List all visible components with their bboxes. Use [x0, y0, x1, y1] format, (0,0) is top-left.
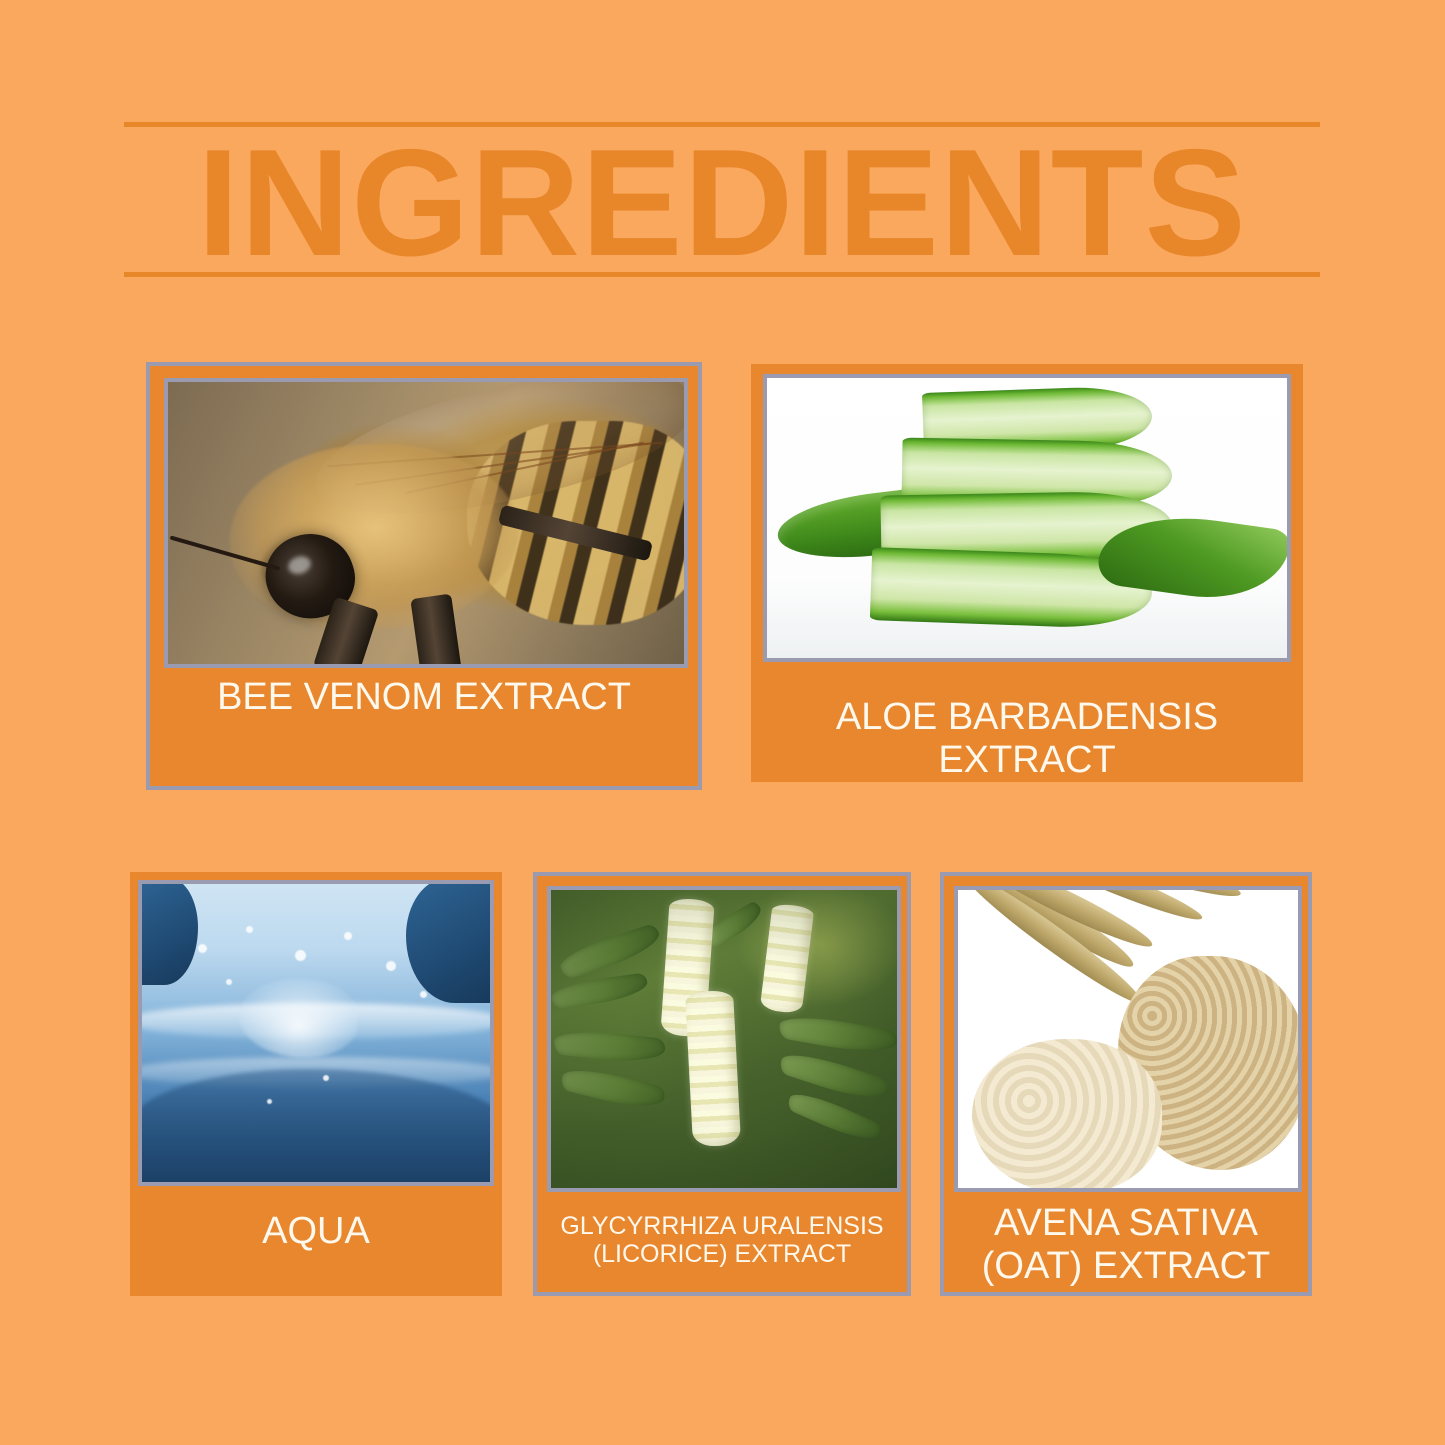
ingredient-card-aloe[interactable]: ALOE BARBADENSIS EXTRACT	[751, 364, 1303, 782]
ingredient-caption-aloe: ALOE BARBADENSIS EXTRACT	[751, 696, 1303, 781]
ingredient-caption-aqua: AQUA	[130, 1210, 502, 1253]
oat-grains-photo	[958, 890, 1298, 1188]
water-splash-photo	[142, 884, 490, 1182]
bee-photo-frame	[164, 378, 688, 668]
ingredient-caption-oat: AVENA SATIVA (OAT) EXTRACT	[944, 1202, 1308, 1287]
ingredient-caption-bee-venom: BEE VENOM EXTRACT	[150, 676, 698, 719]
ingredient-card-aqua[interactable]: AQUA	[130, 872, 502, 1296]
oat-photo-frame	[954, 886, 1302, 1192]
ingredient-card-licorice[interactable]: GLYCYRRHIZA URALENSIS (LICORICE) EXTRACT	[533, 872, 911, 1296]
ingredient-card-oat[interactable]: AVENA SATIVA (OAT) EXTRACT	[940, 872, 1312, 1296]
aloe-photo-frame	[763, 374, 1291, 662]
title-block: INGREDIENTS	[124, 122, 1320, 277]
honeybee-macro-photo	[168, 382, 684, 664]
ingredient-caption-licorice: GLYCYRRHIZA URALENSIS (LICORICE) EXTRACT	[537, 1212, 907, 1268]
page-title: INGREDIENTS	[124, 128, 1320, 278]
licorice-plant-photo	[551, 890, 897, 1188]
title-rule-bottom	[124, 272, 1320, 277]
licorice-photo-frame	[547, 886, 901, 1192]
ingredient-card-bee-venom[interactable]: BEE VENOM EXTRACT	[146, 362, 702, 790]
aqua-photo-frame	[138, 880, 494, 1186]
aloe-vera-slices-photo	[767, 378, 1287, 658]
